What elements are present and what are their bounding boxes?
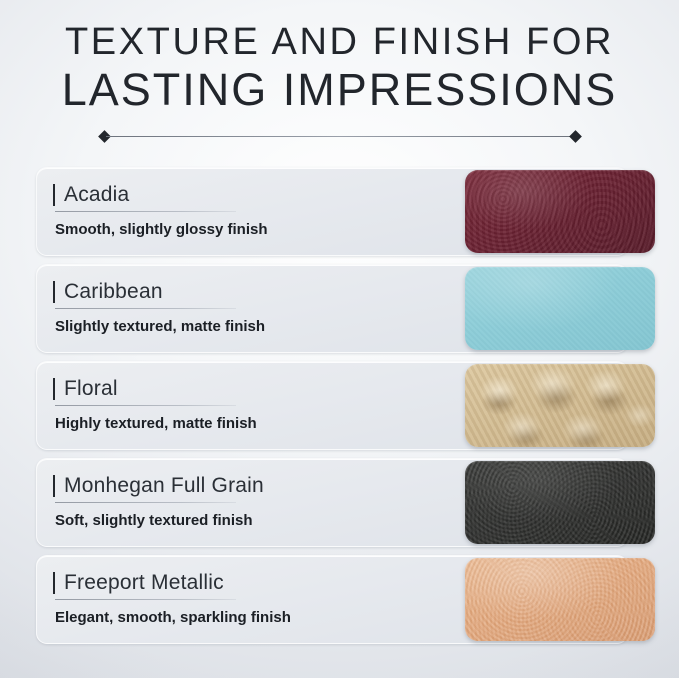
tick-mark-icon xyxy=(53,378,55,400)
leather-grain-texture xyxy=(465,170,655,253)
finish-card-body: Freeport Metallic Elegant, smooth, spark… xyxy=(53,569,453,626)
finish-title-underline xyxy=(55,211,236,212)
finish-title: Floral xyxy=(64,377,118,401)
finish-title-line: Caribbean xyxy=(53,278,453,306)
leather-grain-texture xyxy=(465,267,655,350)
embossed-floral-texture xyxy=(465,364,655,447)
finish-title: Monhegan Full Grain xyxy=(64,474,264,498)
finish-title-line: Floral xyxy=(53,375,453,403)
diamond-ornament-right-icon xyxy=(569,130,582,143)
finish-description: Elegant, smooth, sparkling finish xyxy=(55,609,453,626)
list-item[interactable]: Monhegan Full Grain Soft, slightly textu… xyxy=(0,458,679,547)
finish-title-line: Acadia xyxy=(53,181,453,209)
leather-grain-texture xyxy=(465,461,655,544)
finish-card-body: Acadia Smooth, slightly glossy finish xyxy=(53,181,453,238)
finish-description: Highly textured, matte finish xyxy=(55,415,453,432)
page-title-line-2: LASTING IMPRESSIONS xyxy=(0,66,679,114)
finish-card-body: Monhegan Full Grain Soft, slightly textu… xyxy=(53,472,453,529)
list-item[interactable]: Freeport Metallic Elegant, smooth, spark… xyxy=(0,555,679,644)
finish-title-underline xyxy=(55,502,236,503)
acadia-swatch[interactable] xyxy=(465,170,655,253)
finish-title-underline xyxy=(55,308,236,309)
finish-title: Caribbean xyxy=(64,280,163,304)
tick-mark-icon xyxy=(53,281,55,303)
monhegan-swatch[interactable] xyxy=(465,461,655,544)
title-divider xyxy=(100,131,580,142)
leather-grain-texture xyxy=(465,558,655,641)
page-title-line-1: TEXTURE AND FINISH FOR xyxy=(0,22,679,62)
divider-rule xyxy=(106,136,574,137)
finish-title: Acadia xyxy=(64,183,129,207)
tick-mark-icon xyxy=(53,572,55,594)
page-title: TEXTURE AND FINISH FOR LASTING IMPRESSIO… xyxy=(0,22,679,114)
finish-list: Acadia Smooth, slightly glossy finish Ca… xyxy=(0,167,679,652)
texture-finish-poster: TEXTURE AND FINISH FOR LASTING IMPRESSIO… xyxy=(0,0,679,678)
tick-mark-icon xyxy=(53,475,55,497)
list-item[interactable]: Floral Highly textured, matte finish xyxy=(0,361,679,450)
finish-title-line: Monhegan Full Grain xyxy=(53,472,453,500)
list-item[interactable]: Acadia Smooth, slightly glossy finish xyxy=(0,167,679,256)
finish-card-body: Caribbean Slightly textured, matte finis… xyxy=(53,278,453,335)
finish-title: Freeport Metallic xyxy=(64,571,224,595)
finish-title-line: Freeport Metallic xyxy=(53,569,453,597)
list-item[interactable]: Caribbean Slightly textured, matte finis… xyxy=(0,264,679,353)
tick-mark-icon xyxy=(53,184,55,206)
floral-swatch[interactable] xyxy=(465,364,655,447)
caribbean-swatch[interactable] xyxy=(465,267,655,350)
finish-description: Slightly textured, matte finish xyxy=(55,318,453,335)
finish-title-underline xyxy=(55,599,236,600)
finish-card-body: Floral Highly textured, matte finish xyxy=(53,375,453,432)
freeport-swatch[interactable] xyxy=(465,558,655,641)
finish-description: Soft, slightly textured finish xyxy=(55,512,453,529)
finish-description: Smooth, slightly glossy finish xyxy=(55,221,453,238)
finish-title-underline xyxy=(55,405,236,406)
